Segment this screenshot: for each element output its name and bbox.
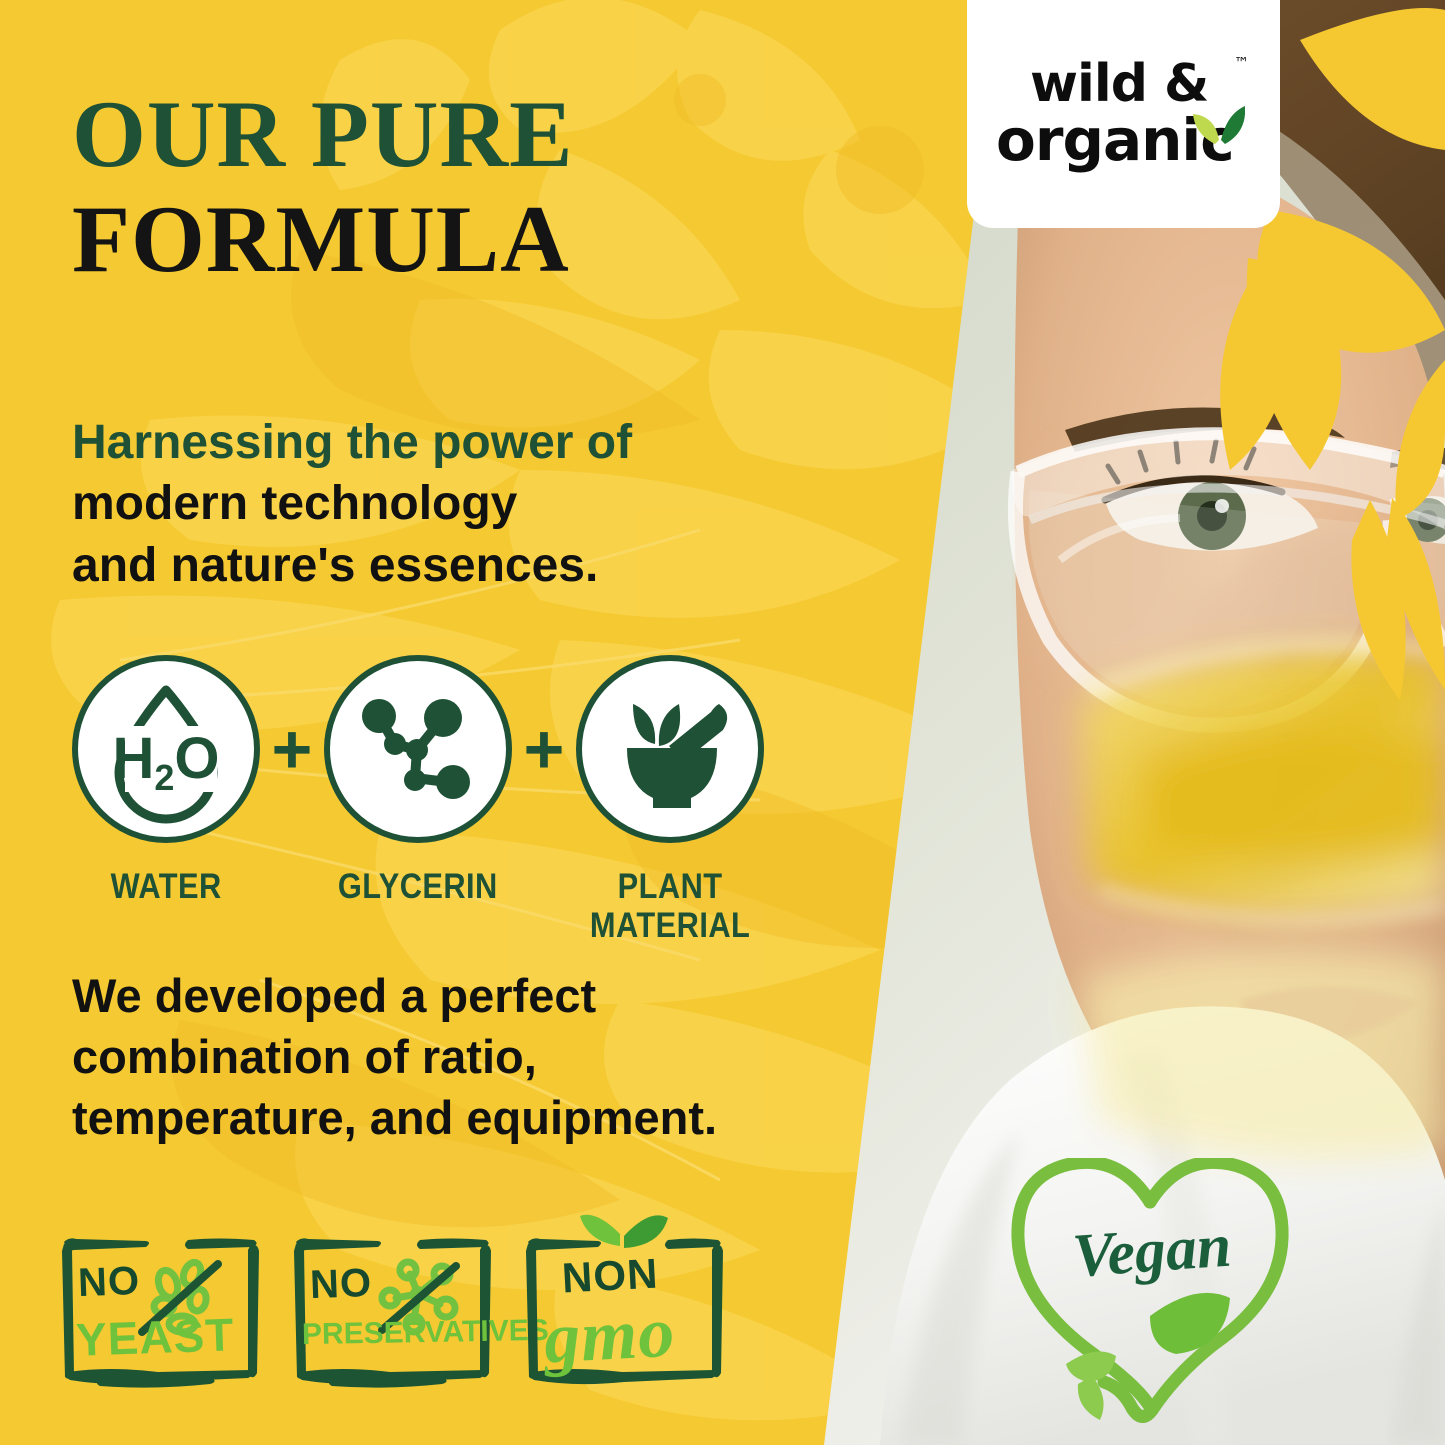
badge-word: YEAST [75, 1307, 235, 1366]
molecule-icon [324, 655, 512, 843]
detail-line-1: We developed a perfect [72, 965, 812, 1026]
vegan-badge: Vegan [1000, 1158, 1300, 1426]
badge-word: gmo [542, 1291, 677, 1381]
detail-paragraph: We developed a perfect combination of ra… [72, 965, 812, 1148]
ingredient-water: H2O WATER [72, 655, 260, 906]
mortar-pestle-icon [576, 655, 764, 843]
intro-line-1: Harnessing the power of [72, 412, 792, 473]
brand-logo-card[interactable]: ™ wild & organic [967, 0, 1280, 228]
badge-word: PRESERVATIVES [302, 1314, 549, 1352]
intro-line-2: modern technology [72, 473, 792, 534]
water-droplet-h2o-icon: H2O [72, 655, 260, 843]
badge-no-yeast: NO YEAST [58, 1232, 264, 1394]
ingredient-plant-material: PLANT MATERIAL [576, 655, 764, 945]
plus-separator-2: + [512, 655, 576, 843]
molecule-crossed-out-icon [290, 1232, 496, 1394]
intro-paragraph: Harnessing the power of modern technolog… [72, 412, 792, 596]
heart-vine-icon [1000, 1158, 1300, 1426]
marketing-infographic: OUR PURE FORMULA Harnessing the power of… [0, 0, 1445, 1445]
headline-line-1: OUR PURE [72, 86, 852, 183]
headline-line-2: FORMULA [72, 191, 852, 288]
ingredient-label: GLYCERIN [338, 867, 498, 906]
page-title: OUR PURE FORMULA [72, 86, 852, 288]
detail-line-2: combination of ratio, [72, 1026, 812, 1087]
ingredient-label: WATER [110, 867, 221, 906]
vegan-label: Vegan [1050, 1209, 1254, 1294]
ingredient-label: PLANT MATERIAL [590, 867, 750, 945]
trademark-symbol: ™ [1234, 54, 1249, 72]
ingredients-row: H2O WATER + [72, 655, 792, 945]
logo-line-1: wild & [996, 60, 1251, 109]
claim-badges-row: NO YEAST [58, 1232, 728, 1394]
badge-prefix: NO [309, 1261, 373, 1308]
intro-line-3: and nature's essences. [72, 535, 792, 596]
badge-prefix: NO [77, 1259, 141, 1306]
plus-separator-1: + [260, 655, 324, 843]
ingredient-glycerin: GLYCERIN [324, 655, 512, 906]
badge-no-preservatives: NO PRESERVATIVES [290, 1232, 496, 1394]
badge-non-gmo: NON gmo [522, 1232, 728, 1394]
detail-line-3: temperature, and equipment. [72, 1087, 812, 1148]
logo-leaves-icon [1189, 104, 1245, 150]
